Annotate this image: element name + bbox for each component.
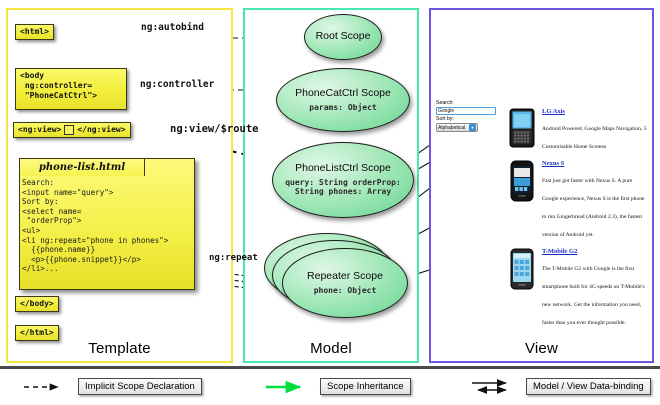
edge-label-autobind: ng:autobind: [141, 22, 204, 33]
list-item[interactable]: Nexus S Fast just got faster with Nexus …: [508, 160, 648, 241]
ngview-placeholder-box: [64, 125, 74, 135]
green-arrow-icon: [264, 381, 310, 393]
html-open-tag: <html>: [15, 24, 54, 40]
repeater-scope-props: phone: Object: [314, 286, 377, 296]
list-item[interactable]: LG Axis Android Powered, Google Maps Nav…: [508, 108, 648, 153]
dashed-arrow-icon: [22, 381, 68, 393]
phone-info: LG Axis Android Powered, Google Maps Nav…: [542, 108, 648, 153]
edge-label-repeat: ng:repeat: [209, 253, 258, 263]
phone-list: LG Axis Android Powered, Google Maps Nav…: [508, 108, 648, 336]
phonecatctrl-scope-props: params: Object: [309, 103, 376, 113]
legend-label: Scope Inheritance: [320, 378, 411, 395]
sort-select-value: Alphabetical: [438, 124, 465, 132]
legend-item-scope-inheritance: Scope Inheritance: [264, 378, 411, 395]
repeater-scope: Repeater Scope phone: Object: [282, 248, 408, 318]
phone-name-link[interactable]: LG Axis: [542, 108, 648, 115]
legend-divider: [0, 366, 660, 369]
ngview-tag: <ng:view> </ng:view>: [13, 122, 131, 138]
phone-name-link[interactable]: Nexus S: [542, 160, 648, 167]
repeater-scope-label: Repeater Scope: [307, 271, 383, 283]
body-close-tag: </body>: [15, 296, 59, 312]
search-label: Search:: [436, 100, 502, 107]
model-panel-title: Model: [245, 340, 417, 357]
phone-info: T-Mobile G2 The T-Mobile G2 with Google …: [542, 248, 648, 329]
view-panel-title: View: [431, 340, 652, 357]
view-search-form: Search: Google Sort by: Alphabetical ▾: [436, 100, 502, 132]
ngview-open-label: <ng:view>: [18, 125, 61, 135]
legend-label: Implicit Scope Declaration: [78, 378, 202, 395]
sort-label: Sort by:: [436, 116, 502, 123]
legend-label: Model / View Data-binding: [526, 378, 651, 395]
phone-list-filename: phone-list.html: [19, 158, 145, 176]
edge-label-controller: ng:controller: [140, 79, 214, 90]
edge-label-route: ng:view/$route: [170, 123, 259, 135]
phone-list-code: Search: <input name="query"> Sort by: <s…: [22, 178, 192, 274]
root-scope-label: Root Scope: [316, 31, 371, 43]
phonecatctrl-scope: PhoneCatCtrl Scope params: Object: [276, 68, 410, 132]
phone-thumbnail-lg-axis: [508, 108, 536, 153]
body-open-tag: <body ng:controller= "PhoneCatCtrl">: [15, 68, 127, 110]
root-scope: Root Scope: [304, 14, 382, 60]
search-input[interactable]: Google: [436, 107, 496, 115]
chevron-down-icon: ▾: [469, 124, 476, 131]
html-close-tag: </html>: [15, 325, 59, 341]
legend-item-model-view-data-binding: Model / View Data-binding: [470, 378, 651, 395]
template-panel-title: Template: [8, 340, 231, 357]
phonecatctrl-scope-label: PhoneCatCtrl Scope: [295, 88, 391, 100]
phone-name-link[interactable]: T-Mobile G2: [542, 248, 648, 255]
phonelistctrl-scope-label: PhoneListCtrl Scope: [295, 163, 391, 175]
double-arrow-icon: [470, 379, 516, 395]
phone-thumbnail-nexus-s: [508, 160, 536, 241]
phone-snippet: Android Powered, Google Maps Navigation,…: [542, 126, 647, 150]
legend-item-implicit-scope-declaration: Implicit Scope Declaration: [22, 378, 202, 395]
ngview-close-label: </ng:view>: [77, 125, 125, 135]
phone-snippet: The T-Mobile G2 with Google is the first…: [542, 266, 645, 326]
phone-snippet: Fast just got faster with Nexus S. A pur…: [542, 178, 645, 238]
phonelistctrl-scope-props: query: String orderProp: String phones: …: [273, 178, 413, 197]
phonelistctrl-scope: PhoneListCtrl Scope query: String orderP…: [272, 142, 414, 218]
list-item[interactable]: T-Mobile G2 The T-Mobile G2 with Google …: [508, 248, 648, 329]
sort-select[interactable]: Alphabetical ▾: [436, 123, 478, 132]
phone-thumbnail-t-mobile-g2: [508, 248, 536, 329]
phone-info: Nexus S Fast just got faster with Nexus …: [542, 160, 648, 241]
legend: Implicit Scope Declaration Scope Inherit…: [0, 370, 660, 405]
